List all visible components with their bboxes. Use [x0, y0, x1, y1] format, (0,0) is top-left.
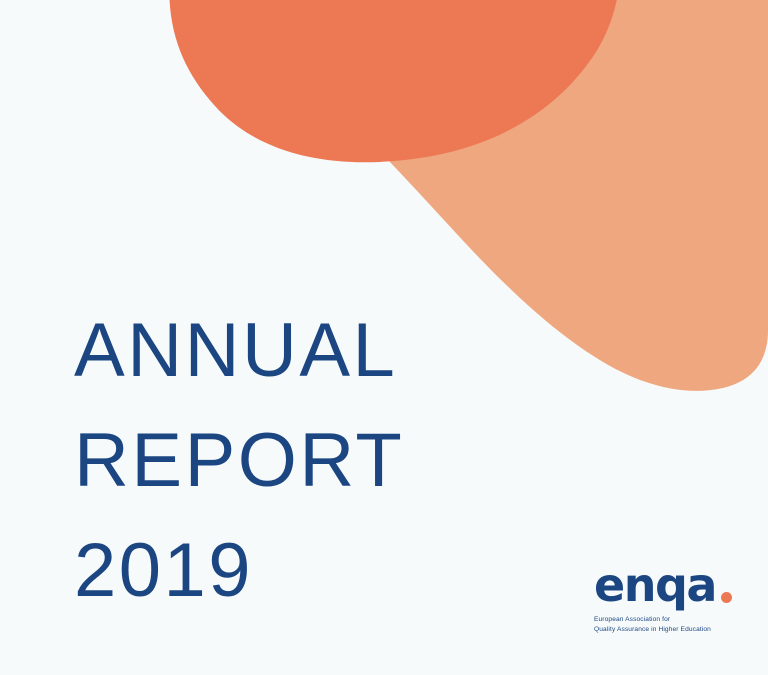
logo-wordmark-text: enqa — [594, 562, 716, 608]
orange-blob-dark — [169, 0, 621, 162]
page-title: ANNUAL REPORT 2019 — [74, 296, 404, 626]
logo-tagline-line-2: Quality Assurance in Higher Education — [594, 625, 726, 635]
logo-wordmark-row: enqa — [594, 556, 726, 608]
logo-tagline: European Association for Quality Assuran… — [594, 615, 726, 634]
enqa-logo: enqa European Association for Quality As… — [594, 556, 726, 634]
title-line-annual: ANNUAL — [74, 296, 404, 406]
report-cover-page: ANNUAL REPORT 2019 enqa European Associa… — [0, 0, 768, 675]
title-line-report: REPORT — [74, 406, 404, 516]
logo-tagline-line-1: European Association for — [594, 615, 726, 625]
orange-dot-icon — [721, 592, 732, 603]
title-line-year: 2019 — [74, 516, 404, 626]
